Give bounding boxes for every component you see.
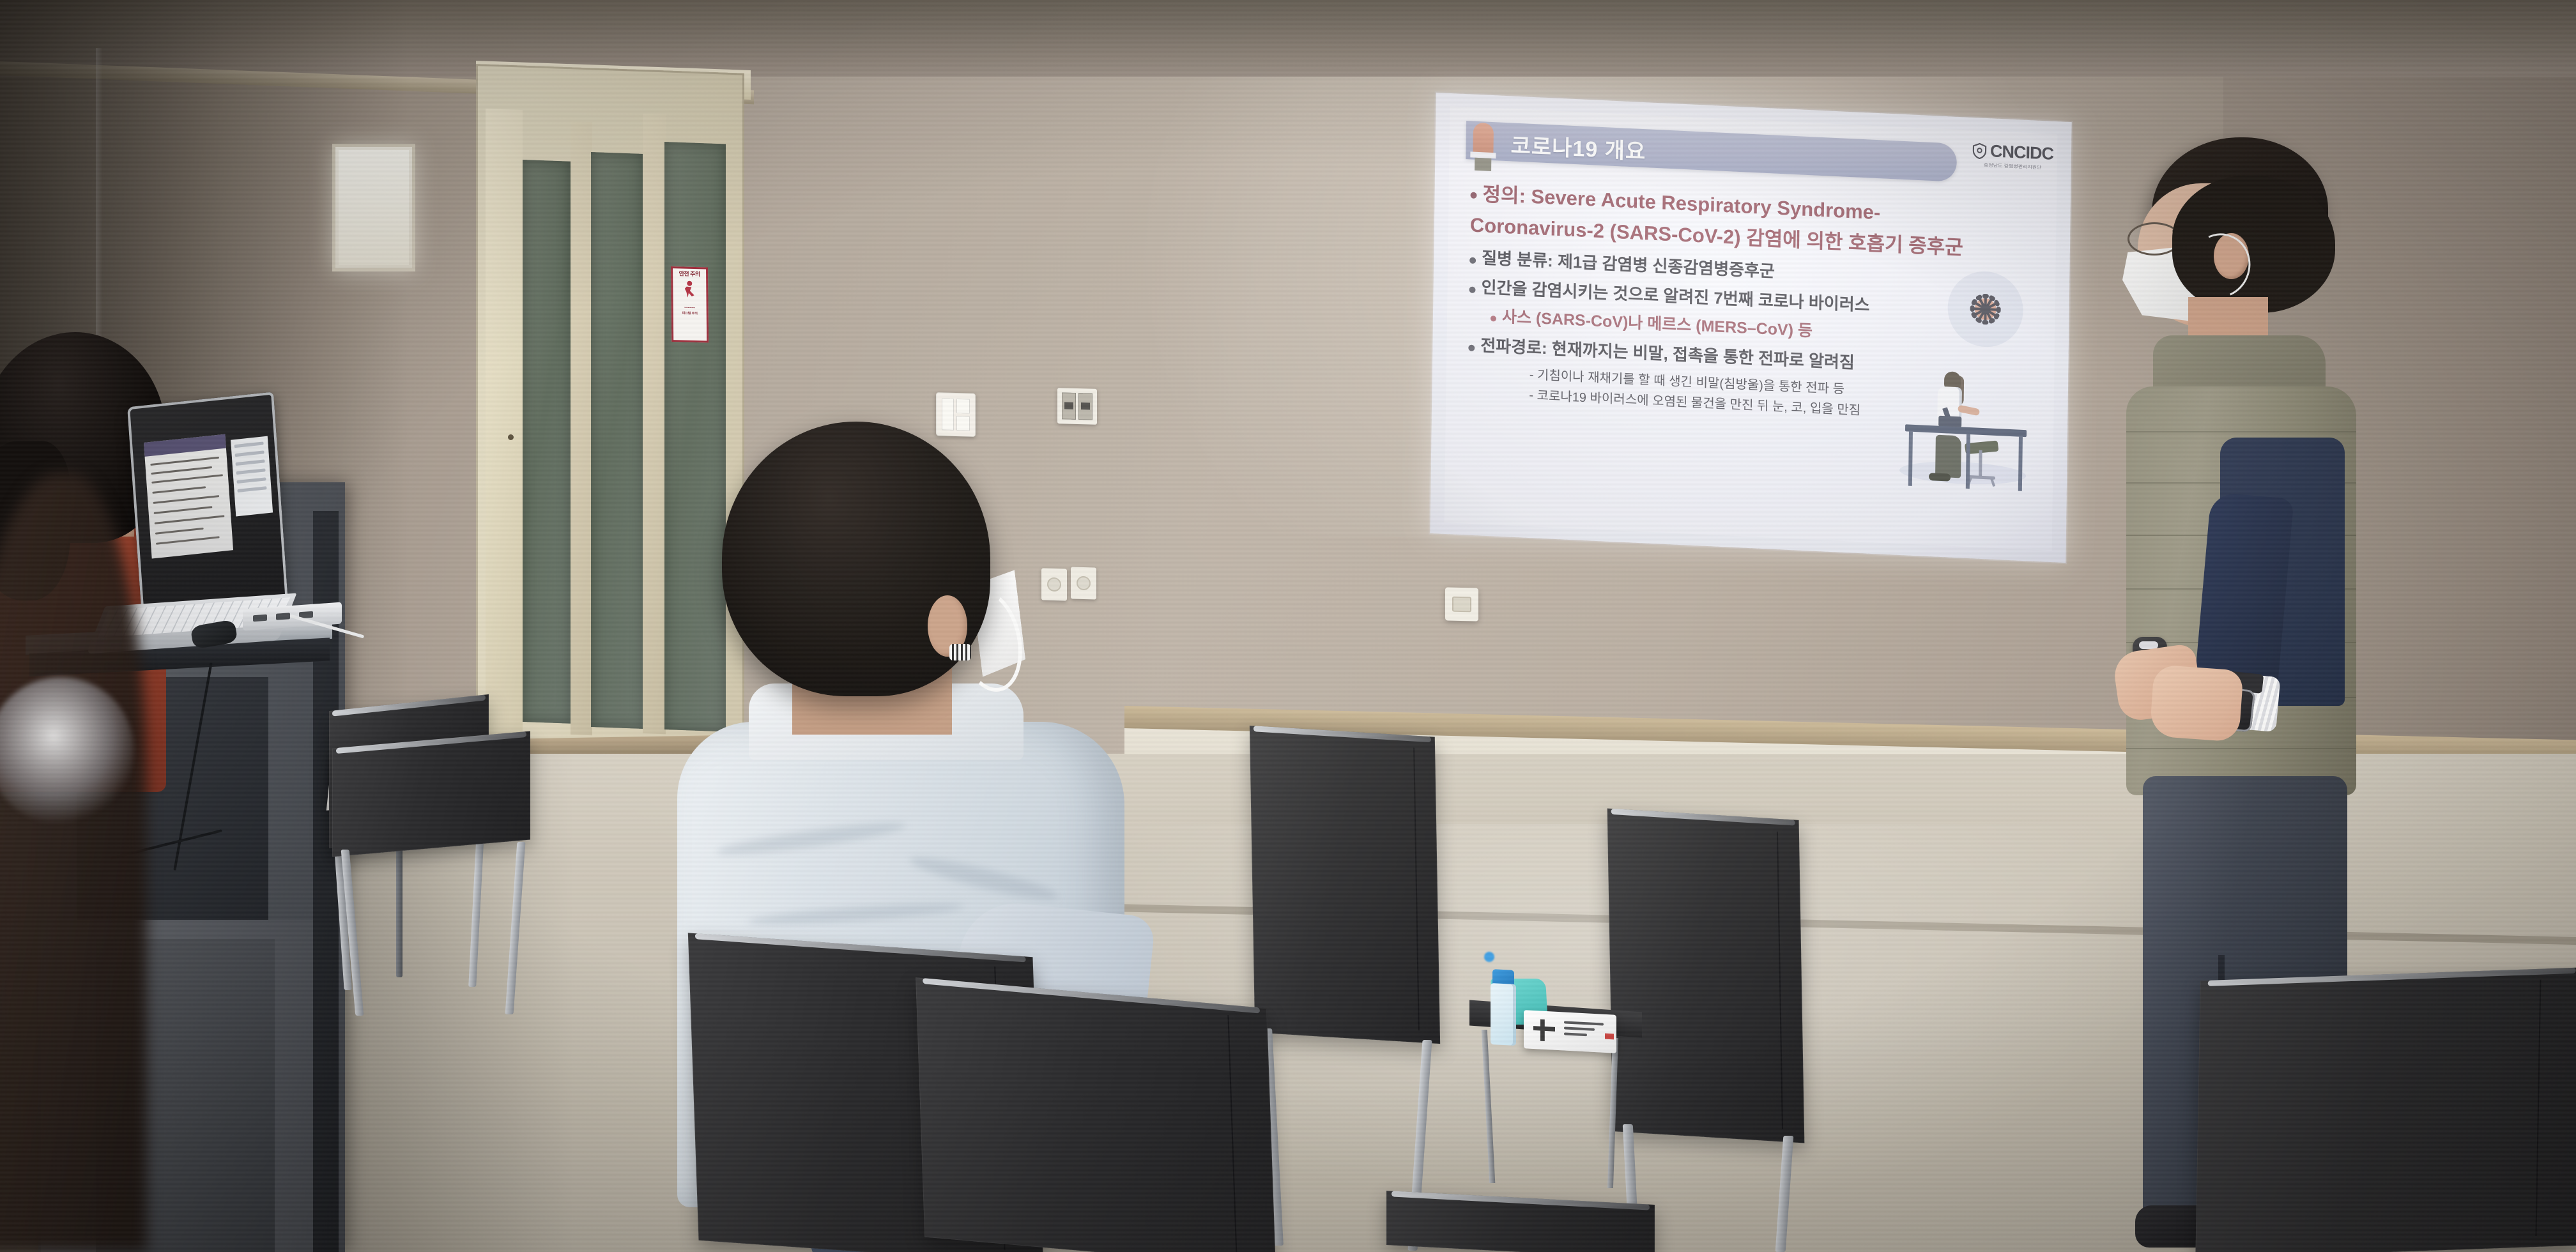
laptop-side-panel <box>231 436 273 517</box>
door-jamb <box>486 109 523 749</box>
door-handle[interactable] <box>508 434 514 440</box>
hand-sanitizer-bottle[interactable] <box>1491 983 1516 1046</box>
cross-icon <box>1533 1019 1555 1042</box>
blue-object <box>1484 952 1494 962</box>
caution-sign: 안전 주의 •••••••••••• 미끄럼 주의 <box>671 266 709 343</box>
bullet-dot <box>1469 257 1476 263</box>
kit-label-mark <box>1605 1034 1614 1040</box>
bullet-dot <box>1491 316 1496 321</box>
foreground-blur <box>0 473 147 1252</box>
slide-bullet-text: 질병 분류: 제1급 감염병 신종감염병증후군 <box>1482 249 1775 279</box>
shield-icon <box>1972 142 1987 159</box>
logo-text: CNCIDC <box>1990 142 2053 163</box>
bullet-dot <box>1469 286 1475 293</box>
slide-surface: 코로나19 개요 CNCIDC 충청남도 감염병관리지원단 정의: Severe… <box>1430 93 2071 563</box>
window-glass <box>339 150 409 265</box>
presenter-hand-right <box>2149 664 2243 742</box>
power-outlet-center[interactable] <box>1445 587 1478 621</box>
falling-person-icon <box>681 280 698 303</box>
chair[interactable] <box>1607 809 1805 1143</box>
training-room-photo: 안전 주의 •••••••••••• 미끄럼 주의 코로나19 개요 <box>0 0 2576 1252</box>
kit-label-lines <box>1564 1021 1604 1040</box>
bullet-dot <box>1468 344 1475 351</box>
caution-sign-body: •••••••••••• <box>684 306 695 310</box>
door-stile-1 <box>571 121 592 735</box>
data-port-plate[interactable] <box>1057 388 1097 425</box>
bullet-dot <box>1470 192 1476 198</box>
side-window <box>332 144 415 271</box>
chair-leg <box>396 843 402 977</box>
title-marker-illustration <box>1470 122 1496 171</box>
data-port-1[interactable] <box>1062 392 1076 420</box>
cncidc-logo: CNCIDC 충청남도 감염병관리지원단 <box>1972 142 2054 172</box>
lab-scientist-illustration <box>1896 342 2032 492</box>
projected-slide: 코로나19 개요 CNCIDC 충청남도 감염병관리지원단 정의: Severe… <box>1430 93 2071 563</box>
chair[interactable] <box>2195 967 2576 1252</box>
door-glass-panel-1[interactable] <box>523 160 571 724</box>
caution-sign-title: 안전 주의 <box>679 271 700 277</box>
laptop-screen[interactable] <box>127 392 288 617</box>
chair[interactable] <box>916 977 1276 1252</box>
laptop-document <box>144 434 233 559</box>
chair[interactable] <box>332 731 530 857</box>
light-switch-2[interactable] <box>956 399 970 414</box>
data-port-2[interactable] <box>1078 393 1092 420</box>
caution-sign-note: 미끄럼 주의 <box>682 310 698 316</box>
mask-strap-adjuster <box>949 644 971 660</box>
slide-title: 코로나19 개요 <box>1510 128 1646 165</box>
chair[interactable] <box>1250 726 1440 1044</box>
virus-body <box>1961 284 2010 335</box>
